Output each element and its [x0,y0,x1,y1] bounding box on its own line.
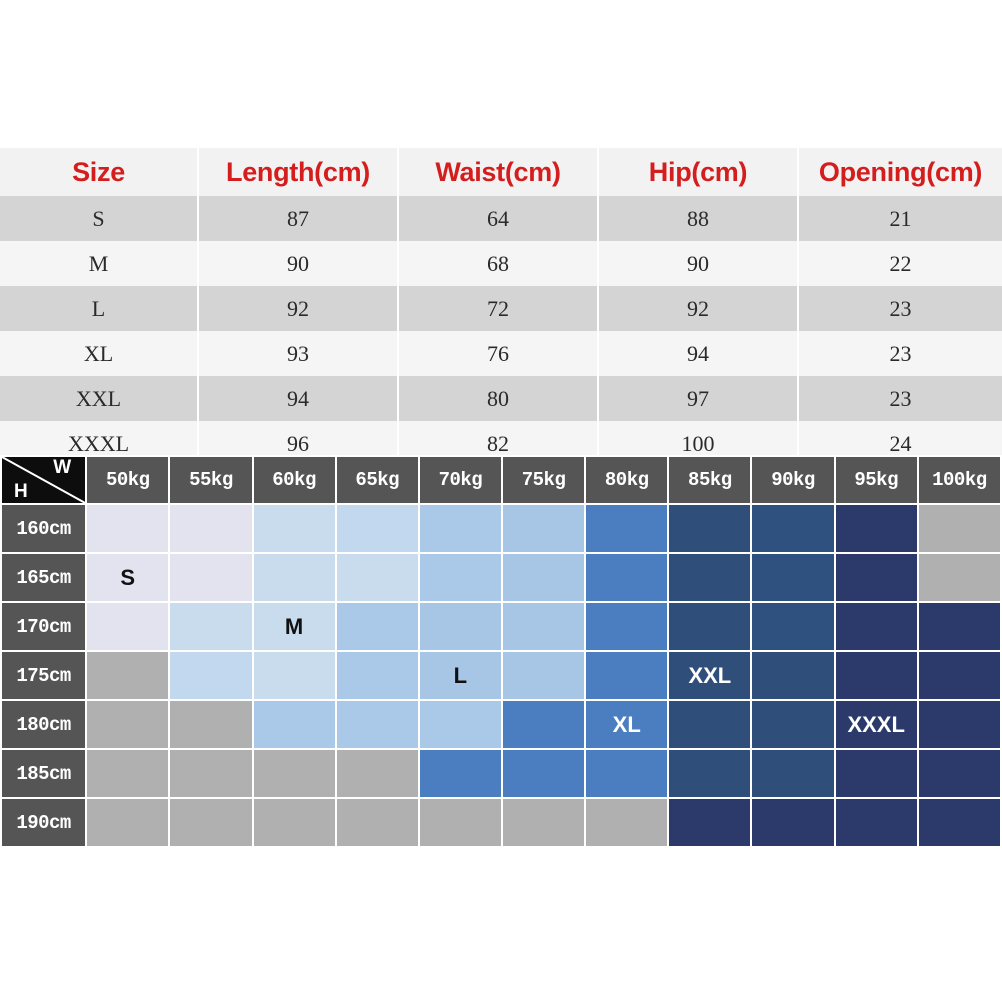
grid-cell-185cm-60kg [254,750,335,797]
grid-row: 170cmM [2,603,1000,650]
cell-hip: 97 [598,376,798,421]
grid-cell-180cm-65kg [337,701,418,748]
grid-cell-185cm-65kg [337,750,418,797]
cell-length: 90 [198,241,398,286]
weight-header-85kg: 85kg [669,457,750,503]
grid-cell-190cm-85kg [669,799,750,846]
cell-hip: 92 [598,286,798,331]
grid-cell-160cm-95kg [836,505,917,552]
grid-cell-160cm-100kg [919,505,1000,552]
grid-cell-190cm-95kg [836,799,917,846]
cell-size: XL [0,331,198,376]
grid-cell-175cm-65kg [337,652,418,699]
grid-cell-185cm-75kg [503,750,584,797]
spec-header-waist: Waist(cm) [398,148,598,196]
grid-cell-185cm-85kg [669,750,750,797]
weight-header-75kg: 75kg [503,457,584,503]
cell-waist: 76 [398,331,598,376]
grid-cell-180cm-100kg [919,701,1000,748]
grid-cell-160cm-55kg [170,505,251,552]
grid-cell-170cm-75kg [503,603,584,650]
grid-cell-190cm-55kg [170,799,251,846]
height-header-190cm: 190cm [2,799,85,846]
cell-size: S [0,196,198,241]
grid-cell-180cm-90kg [752,701,833,748]
grid-cell-170cm-80kg [586,603,667,650]
grid-cell-175cm-90kg [752,652,833,699]
grid-cell-190cm-60kg [254,799,335,846]
grid-cell-180cm-70kg [420,701,501,748]
grid-cell-165cm-60kg [254,554,335,601]
grid-cell-185cm-70kg [420,750,501,797]
grid-cell-185cm-100kg [919,750,1000,797]
size-label-XXL: XXL [688,663,731,688]
grid-cell-180cm-75kg [503,701,584,748]
grid-cell-165cm-95kg [836,554,917,601]
grid-cell-165cm-85kg [669,554,750,601]
grid-cell-175cm-95kg [836,652,917,699]
cell-waist: 80 [398,376,598,421]
cell-opening: 22 [798,241,1002,286]
grid-cell-175cm-60kg [254,652,335,699]
cell-hip: 88 [598,196,798,241]
grid-cell-165cm-75kg [503,554,584,601]
grid-cell-170cm-95kg [836,603,917,650]
grid-cell-165cm-90kg [752,554,833,601]
grid-cell-190cm-70kg [420,799,501,846]
grid-cell-180cm-80kg: XL [586,701,667,748]
grid-header-row: W H 50kg 55kg 60kg 65kg 70kg 75kg 80kg 8… [2,457,1000,503]
weight-header-50kg: 50kg [87,457,168,503]
grid-cell-185cm-80kg [586,750,667,797]
grid-cell-165cm-100kg [919,554,1000,601]
grid-cell-170cm-70kg [420,603,501,650]
grid-cell-170cm-50kg [87,603,168,650]
grid-row: 185cm [2,750,1000,797]
weight-header-80kg: 80kg [586,457,667,503]
grid-cell-175cm-75kg [503,652,584,699]
grid-cell-160cm-75kg [503,505,584,552]
size-chart-page: Size Length(cm) Waist(cm) Hip(cm) Openin… [0,0,1002,1002]
grid-cell-180cm-50kg [87,701,168,748]
grid-row: 160cm [2,505,1000,552]
weight-header-100kg: 100kg [919,457,1000,503]
grid-row: 175cmLXXL [2,652,1000,699]
weight-header-65kg: 65kg [337,457,418,503]
spec-header-row: Size Length(cm) Waist(cm) Hip(cm) Openin… [0,148,1002,196]
grid-cell-180cm-60kg [254,701,335,748]
grid-cell-180cm-85kg [669,701,750,748]
grid-cell-165cm-50kg: S [87,554,168,601]
grid-cell-190cm-75kg [503,799,584,846]
grid-cell-170cm-60kg: M [254,603,335,650]
size-label-M: M [285,614,303,639]
size-label-XXXL: XXXL [847,712,904,737]
weight-header-95kg: 95kg [836,457,917,503]
spec-table-head: Size Length(cm) Waist(cm) Hip(cm) Openin… [0,148,1002,196]
cell-size: L [0,286,198,331]
height-header-175cm: 175cm [2,652,85,699]
spec-header-length: Length(cm) [198,148,398,196]
grid-cell-170cm-85kg [669,603,750,650]
grid-cell-175cm-55kg [170,652,251,699]
grid-cell-170cm-65kg [337,603,418,650]
cell-size: XXL [0,376,198,421]
grid-cell-170cm-100kg [919,603,1000,650]
grid-cell-160cm-85kg [669,505,750,552]
spec-table-body: S 87 64 88 21 M 90 68 90 22 L 92 72 [0,196,1002,466]
size-label-S: S [120,565,135,590]
grid-cell-185cm-50kg [87,750,168,797]
grid-cell-160cm-65kg [337,505,418,552]
cell-length: 94 [198,376,398,421]
table-row: L 92 72 92 23 [0,286,1002,331]
grid-cell-160cm-70kg [420,505,501,552]
cell-length: 93 [198,331,398,376]
grid-cell-165cm-70kg [420,554,501,601]
grid-cell-185cm-55kg [170,750,251,797]
grid-cell-185cm-90kg [752,750,833,797]
cell-waist: 64 [398,196,598,241]
grid-cell-175cm-80kg [586,652,667,699]
grid-cell-165cm-55kg [170,554,251,601]
grid-row: 165cmS [2,554,1000,601]
grid-cell-160cm-50kg [87,505,168,552]
cell-waist: 72 [398,286,598,331]
cell-size: M [0,241,198,286]
grid-cell-175cm-85kg: XXL [669,652,750,699]
height-header-170cm: 170cm [2,603,85,650]
grid-cell-170cm-55kg [170,603,251,650]
cell-hip: 90 [598,241,798,286]
cell-length: 92 [198,286,398,331]
height-weight-grid: W H 50kg 55kg 60kg 65kg 70kg 75kg 80kg 8… [0,455,1002,848]
grid-cell-180cm-95kg: XXXL [836,701,917,748]
grid-cell-175cm-70kg: L [420,652,501,699]
table-row: XL 93 76 94 23 [0,331,1002,376]
grid-cell-180cm-55kg [170,701,251,748]
grid-cell-175cm-100kg [919,652,1000,699]
table-row: M 90 68 90 22 [0,241,1002,286]
weight-axis-label: W [53,458,71,477]
cell-opening: 23 [798,376,1002,421]
grid-cell-160cm-80kg [586,505,667,552]
height-header-160cm: 160cm [2,505,85,552]
grid-cell-190cm-100kg [919,799,1000,846]
cell-hip: 94 [598,331,798,376]
grid-cell-175cm-50kg [87,652,168,699]
garment-spec-table-container: Size Length(cm) Waist(cm) Hip(cm) Openin… [0,148,1002,466]
weight-header-90kg: 90kg [752,457,833,503]
weight-header-60kg: 60kg [254,457,335,503]
spec-header-opening: Opening(cm) [798,148,1002,196]
grid-row: 190cm [2,799,1000,846]
height-header-185cm: 185cm [2,750,85,797]
spec-header-hip: Hip(cm) [598,148,798,196]
cell-waist: 68 [398,241,598,286]
grid-cell-165cm-80kg [586,554,667,601]
size-label-L: L [454,663,467,688]
grid-cell-165cm-65kg [337,554,418,601]
size-label-XL: XL [613,712,641,737]
grid-cell-160cm-60kg [254,505,335,552]
grid-cell-170cm-90kg [752,603,833,650]
table-row: S 87 64 88 21 [0,196,1002,241]
grid-cell-185cm-95kg [836,750,917,797]
height-header-180cm: 180cm [2,701,85,748]
cell-opening: 23 [798,331,1002,376]
grid-cell-190cm-90kg [752,799,833,846]
grid-head: W H 50kg 55kg 60kg 65kg 70kg 75kg 80kg 8… [2,457,1000,503]
grid-row: 180cmXLXXXL [2,701,1000,748]
grid-cell-160cm-90kg [752,505,833,552]
table-row: XXL 94 80 97 23 [0,376,1002,421]
height-header-165cm: 165cm [2,554,85,601]
grid-cell-190cm-80kg [586,799,667,846]
cell-opening: 21 [798,196,1002,241]
grid-cell-190cm-65kg [337,799,418,846]
axis-corner-cell: W H [2,457,85,503]
weight-header-55kg: 55kg [170,457,251,503]
garment-spec-table: Size Length(cm) Waist(cm) Hip(cm) Openin… [0,148,1002,466]
height-axis-label: H [14,482,28,501]
grid-body: 160cm165cmS170cmM175cmLXXL180cmXLXXXL185… [2,505,1000,846]
cell-opening: 23 [798,286,1002,331]
grid-cell-190cm-50kg [87,799,168,846]
weight-header-70kg: 70kg [420,457,501,503]
spec-header-size: Size [0,148,198,196]
height-weight-grid-container: W H 50kg 55kg 60kg 65kg 70kg 75kg 80kg 8… [0,455,1002,848]
cell-length: 87 [198,196,398,241]
